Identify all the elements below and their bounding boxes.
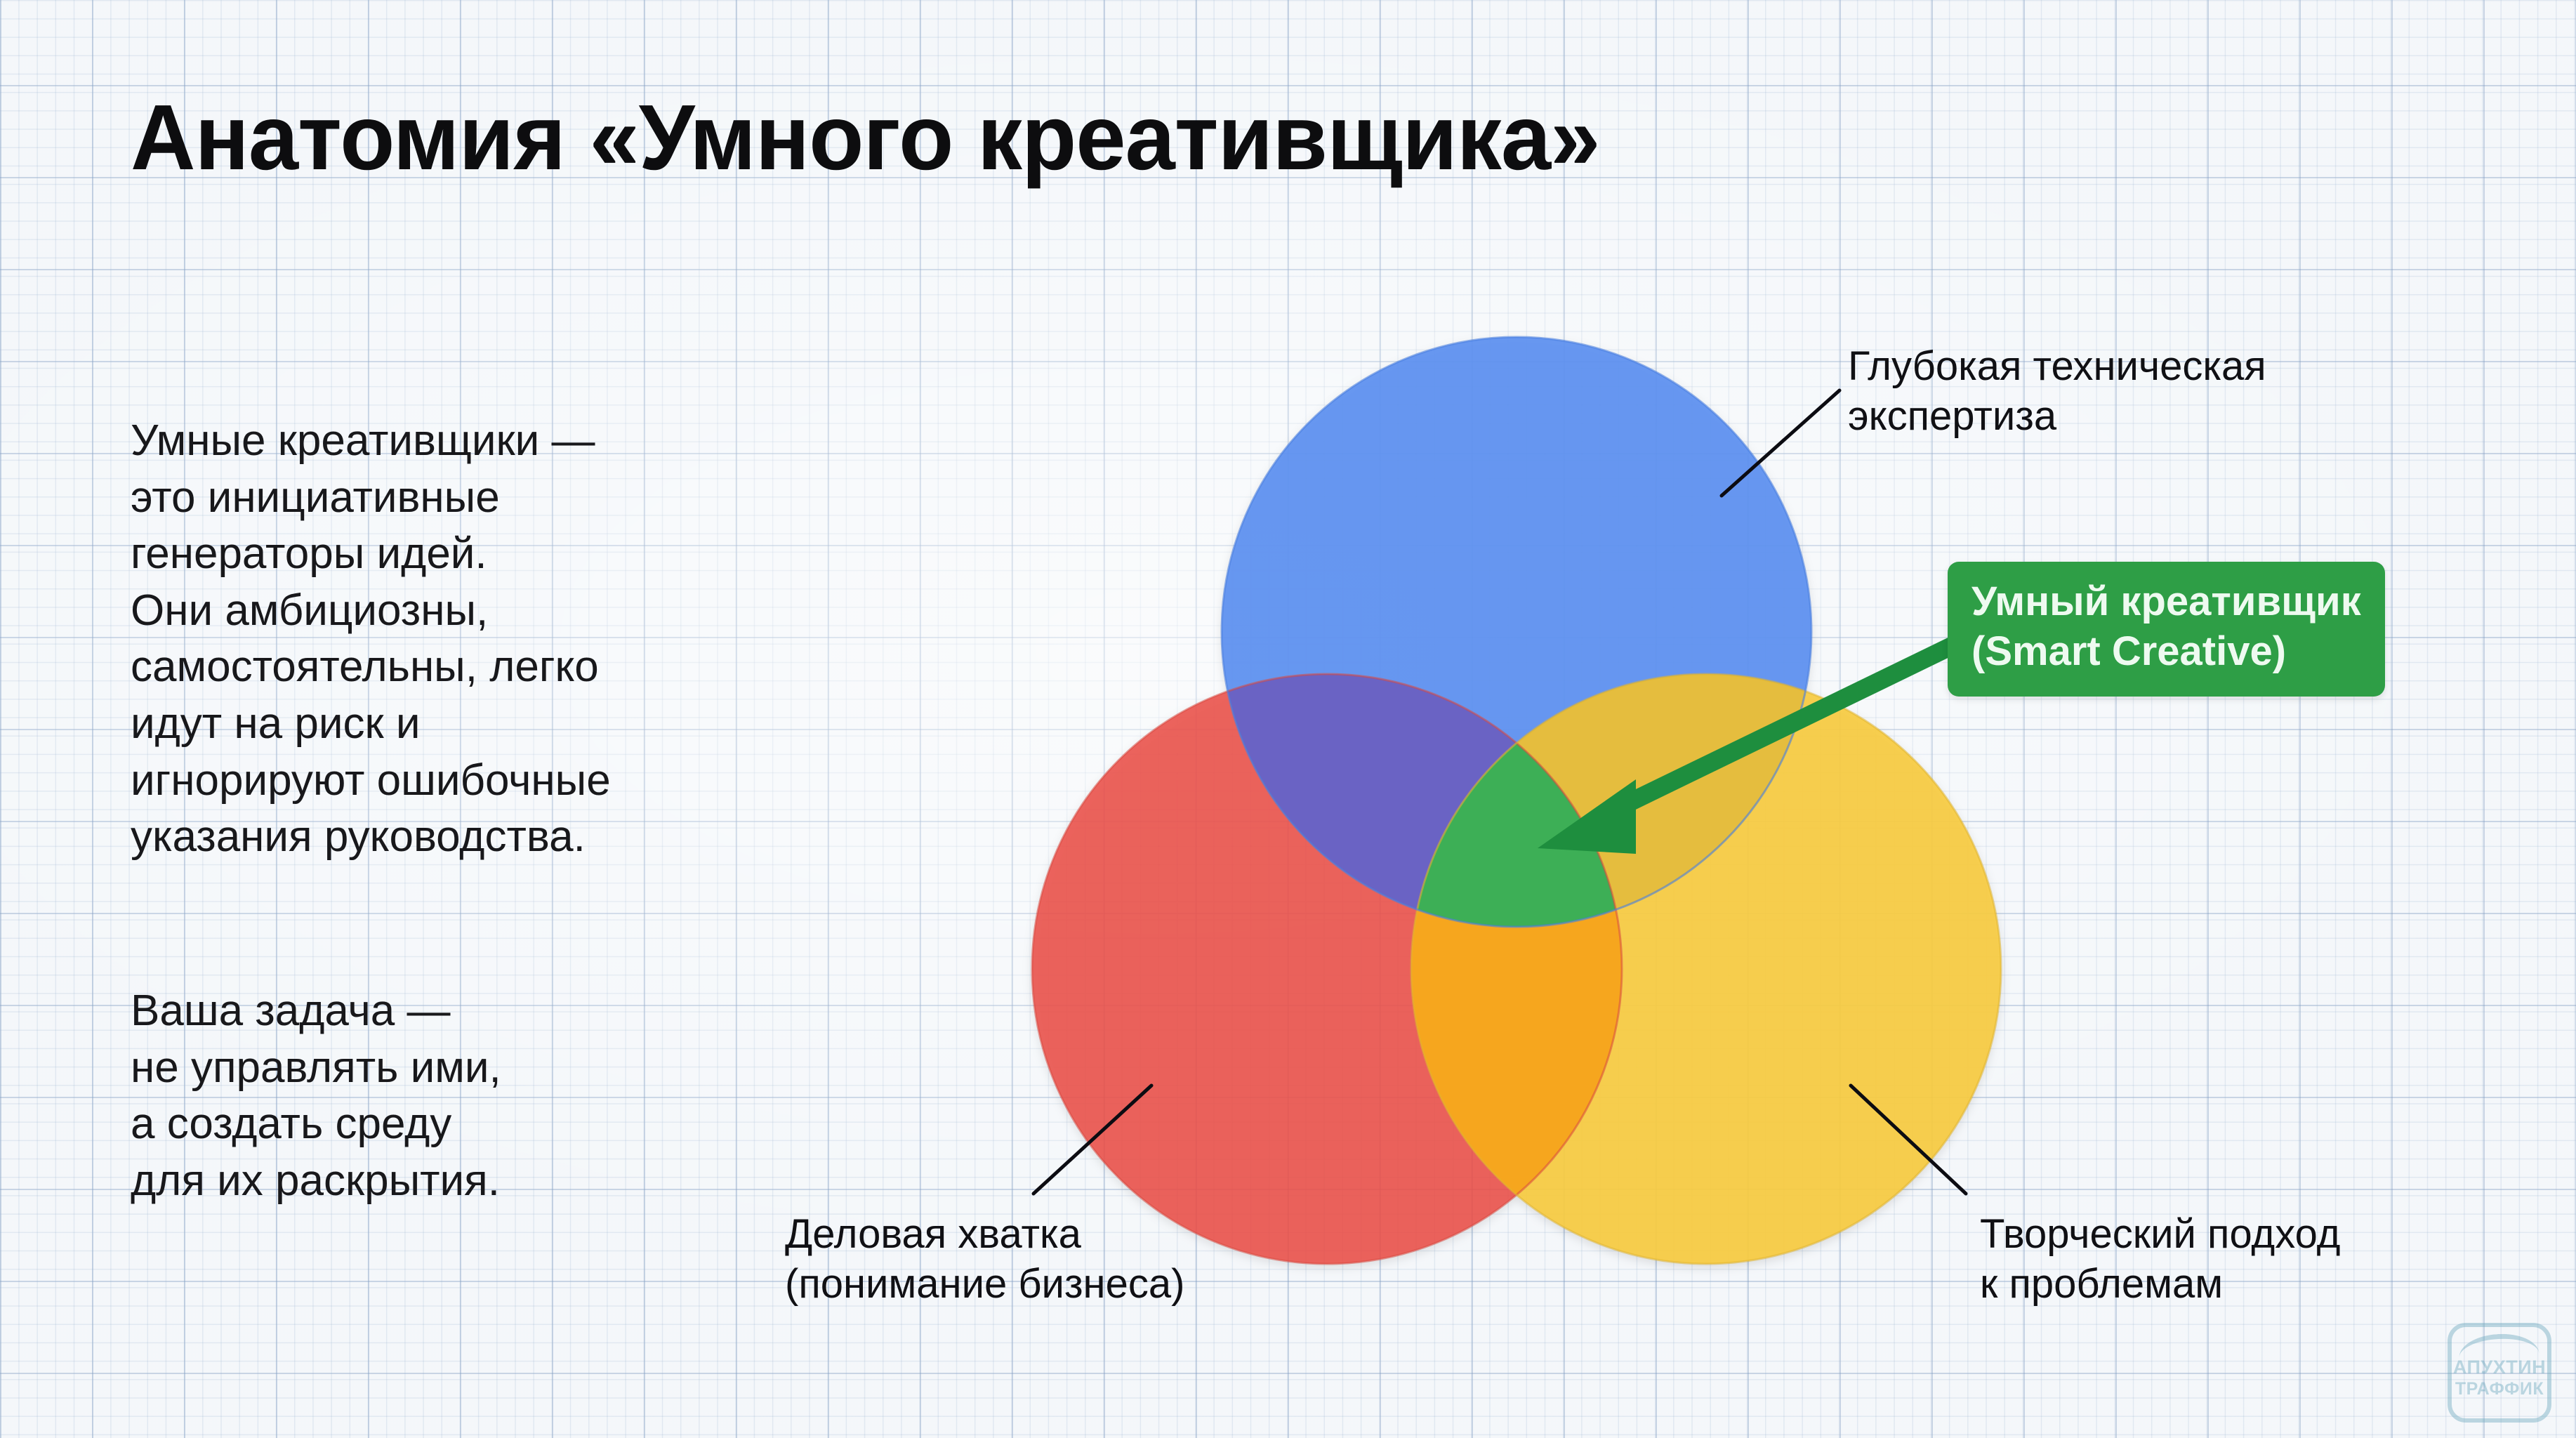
- callout-label-creative: Творческий подход к проблемам: [1980, 1210, 2340, 1310]
- watermark-logo: АПУХТИН ТРАФФИК: [2448, 1323, 2551, 1423]
- smart-creative-badge[interactable]: Умный креативщик (Smart Creative): [1948, 562, 2385, 697]
- slide-canvas: Анатомия «Умного креативщика» Умные креа…: [0, 0, 2576, 1438]
- callout-label-business: Деловая хватка (понимание бизнеса): [785, 1210, 1184, 1310]
- venn-diagram: [1004, 295, 2029, 1292]
- callout-label-technical: Глубокая техническая экспертиза: [1848, 342, 2266, 442]
- logo-text-line-2: ТРАФФИК: [2448, 1379, 2551, 1399]
- body-paragraph-1: Умные креативщики — это инициативные ген…: [131, 413, 611, 866]
- logo-text-line-1: АПУХТИН: [2448, 1357, 2551, 1378]
- page-title: Анатомия «Умного креативщика»: [131, 84, 1599, 190]
- body-paragraph-2: Ваша задача — не управлять ими, а создат…: [131, 983, 501, 1209]
